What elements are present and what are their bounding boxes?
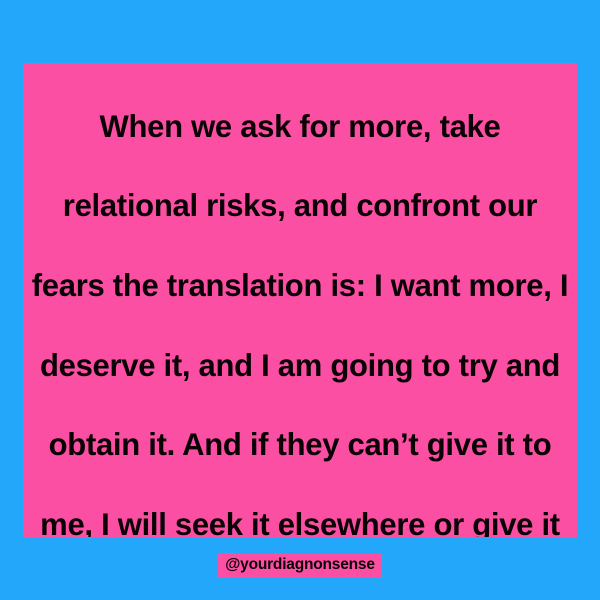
- quote-text: When we ask for more, take relational ri…: [27, 63, 573, 537]
- quote-line: obtain it. And if they can’t give it to: [31, 425, 569, 465]
- quote-line: fears the translation is: I want more, I: [31, 266, 569, 306]
- quote-line: me, I will seek it elsewhere or give it: [31, 505, 569, 537]
- quote-line: deserve it, and I am going to try and: [31, 346, 569, 386]
- quote-card: When we ask for more, take relational ri…: [0, 0, 600, 600]
- quote-line: relational risks, and confront our: [31, 186, 569, 226]
- quote-line: When we ask for more, take: [31, 107, 569, 147]
- author-handle: @yourdiagnonsense: [218, 553, 382, 577]
- quote-panel: When we ask for more, take relational ri…: [23, 63, 577, 537]
- handle-row: @yourdiagnonsense: [0, 553, 600, 577]
